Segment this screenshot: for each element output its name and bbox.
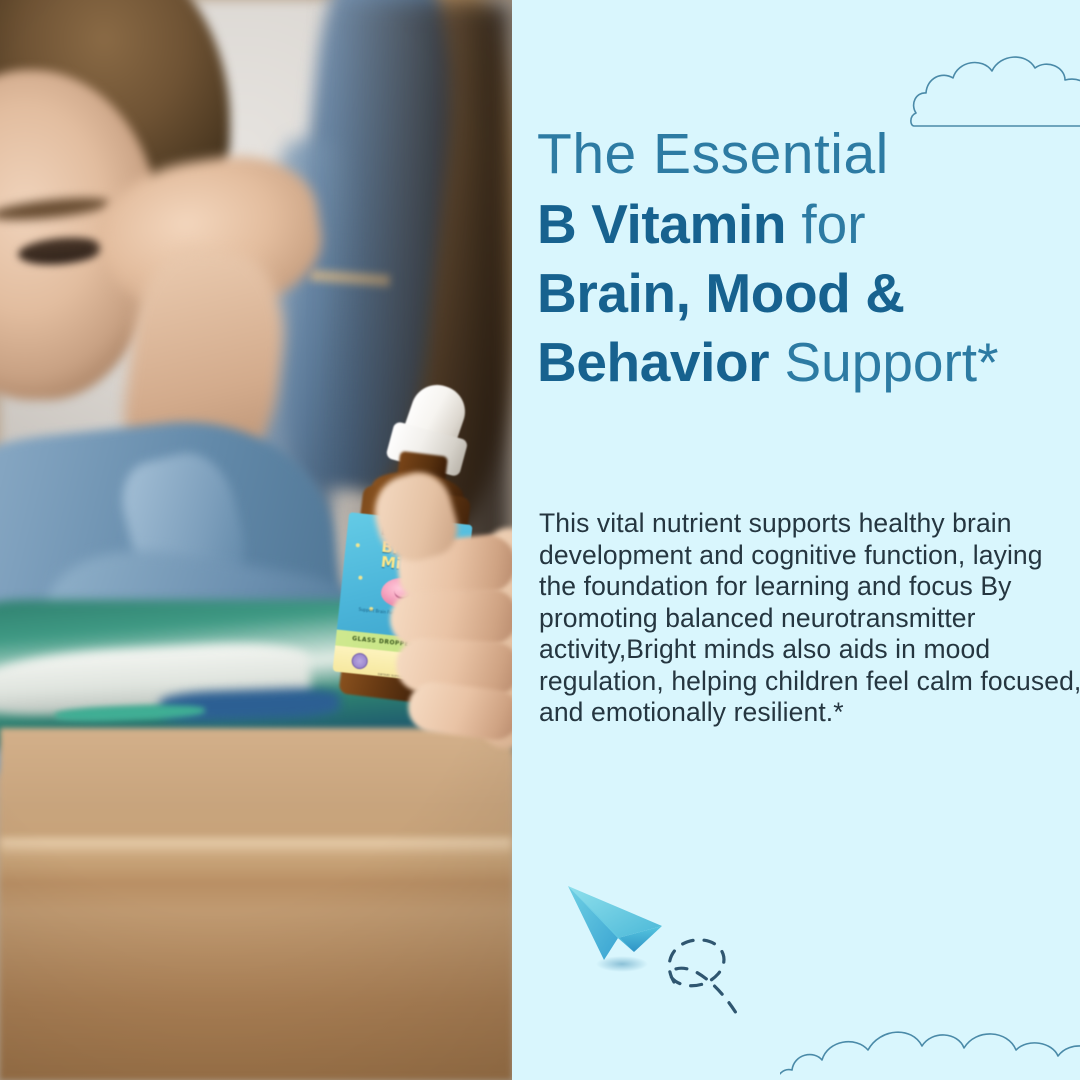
cloud-outline-icon xyxy=(908,30,1080,140)
photo-child-hand xyxy=(352,520,512,750)
headline-line-1: The Essential xyxy=(537,126,1080,183)
headline: The Essential B Vitamin for Brain, Mood … xyxy=(537,126,1080,390)
content-panel: The Essential B Vitamin for Brain, Mood … xyxy=(512,0,1080,1080)
cloud-outline-icon xyxy=(780,990,1080,1080)
photo-finger-pinky xyxy=(405,679,512,742)
photo-table-edge-highlight xyxy=(0,838,512,856)
ad-canvas: Beleave Bright Minds Support Brain Funct… xyxy=(0,0,1080,1080)
headline-line-3: Brain, Mood & xyxy=(537,266,1080,321)
product-lifestyle-photo: Beleave Bright Minds Support Brain Funct… xyxy=(0,0,512,1080)
photo-wooden-table xyxy=(0,728,512,1080)
headline-line-2: B Vitamin for xyxy=(537,197,1080,252)
dashed-loop-trail-icon xyxy=(669,940,738,1016)
headline-line-4: Behavior Support* xyxy=(537,335,1080,390)
paper-plane-icon xyxy=(562,878,812,1028)
body-paragraph: This vital nutrient supports healthy bra… xyxy=(539,508,1080,729)
